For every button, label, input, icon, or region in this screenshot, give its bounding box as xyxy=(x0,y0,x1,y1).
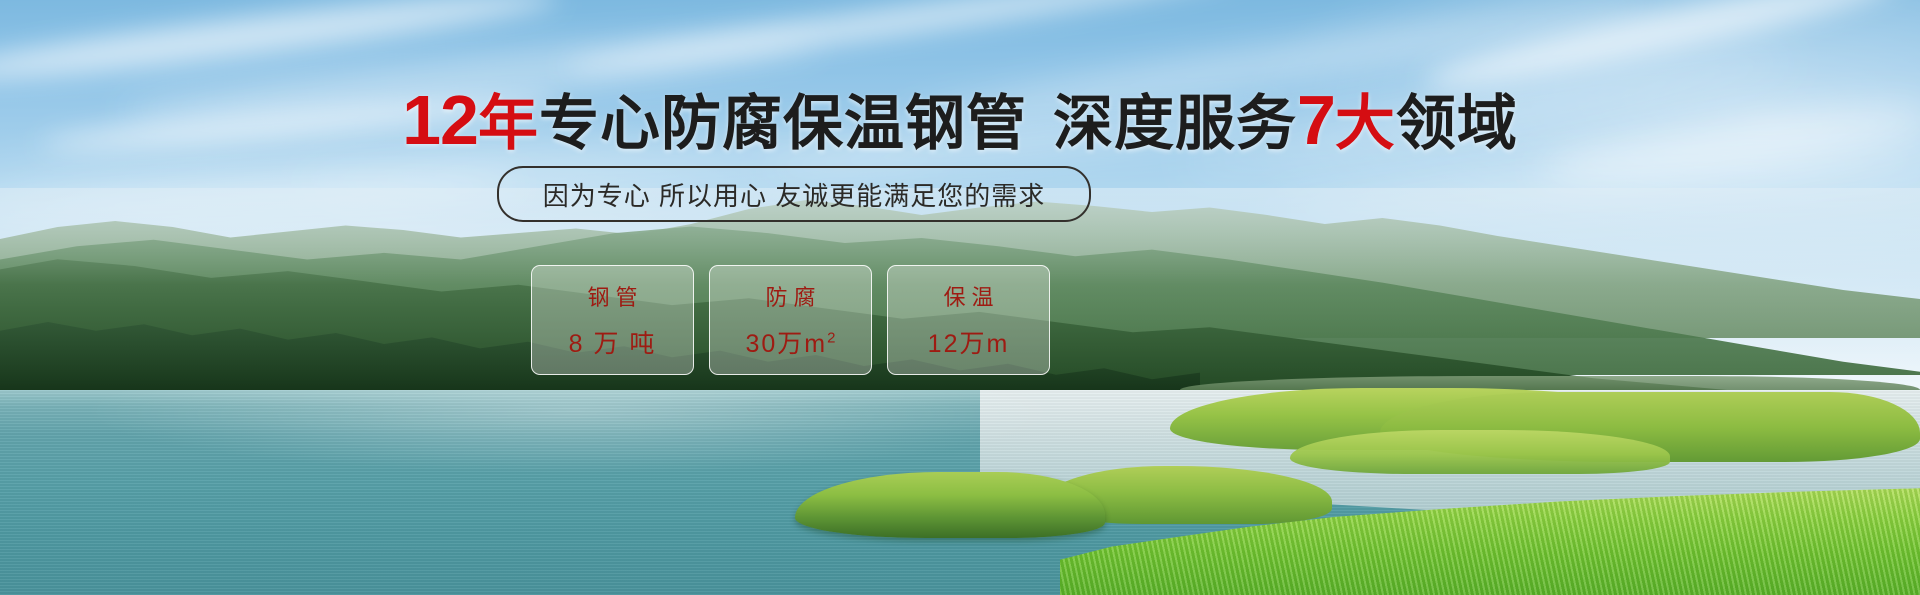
headline-years-number: 12 xyxy=(402,81,478,159)
headline-main-phrase: 专心防腐保温钢管 xyxy=(539,90,1027,157)
stat-card-value-base: 30万m xyxy=(746,330,828,358)
headline-years-unit: 年 xyxy=(478,90,539,157)
subtitle-pill: 因为专心 所以用心 友诚更能满足您的需求 xyxy=(497,166,1091,222)
stat-card-value: 12万m xyxy=(928,324,1010,360)
stat-card-value: 8 万 吨 xyxy=(569,324,657,360)
headline-fields-unit: 大 xyxy=(1335,90,1396,157)
stat-card-value-base: 8 万 吨 xyxy=(569,330,657,358)
stat-card-insulation: 保温 12万m xyxy=(887,265,1050,375)
stat-card-steel-pipe: 钢管 8 万 吨 xyxy=(531,265,694,375)
subtitle-text: 因为专心 所以用心 友诚更能满足您的需求 xyxy=(543,176,1045,213)
headline-service-phrase: 深度服务 xyxy=(1053,90,1297,157)
stat-card-title: 保温 xyxy=(937,280,999,312)
stat-card-anticorrosion: 防腐 30万m2 xyxy=(709,265,872,375)
banner-content: 12年专心防腐保温钢管深度服务7大领域 因为专心 所以用心 友诚更能满足您的需求… xyxy=(0,0,1920,595)
headline-fields-noun: 领域 xyxy=(1396,90,1518,157)
stat-cards: 钢管 8 万 吨 防腐 30万m2 保温 12万m xyxy=(531,265,1051,375)
stat-card-value: 30万m2 xyxy=(746,324,836,360)
hero-banner: 12年专心防腐保温钢管深度服务7大领域 因为专心 所以用心 友诚更能满足您的需求… xyxy=(0,0,1920,595)
stat-card-title: 防腐 xyxy=(759,280,821,312)
stat-card-value-base: 12万m xyxy=(928,330,1010,358)
headline-fields-number: 7 xyxy=(1297,81,1335,159)
stat-card-value-superscript: 2 xyxy=(827,330,835,347)
headline: 12年专心防腐保温钢管深度服务7大领域 xyxy=(0,84,1920,160)
stat-card-title: 钢管 xyxy=(581,280,643,312)
